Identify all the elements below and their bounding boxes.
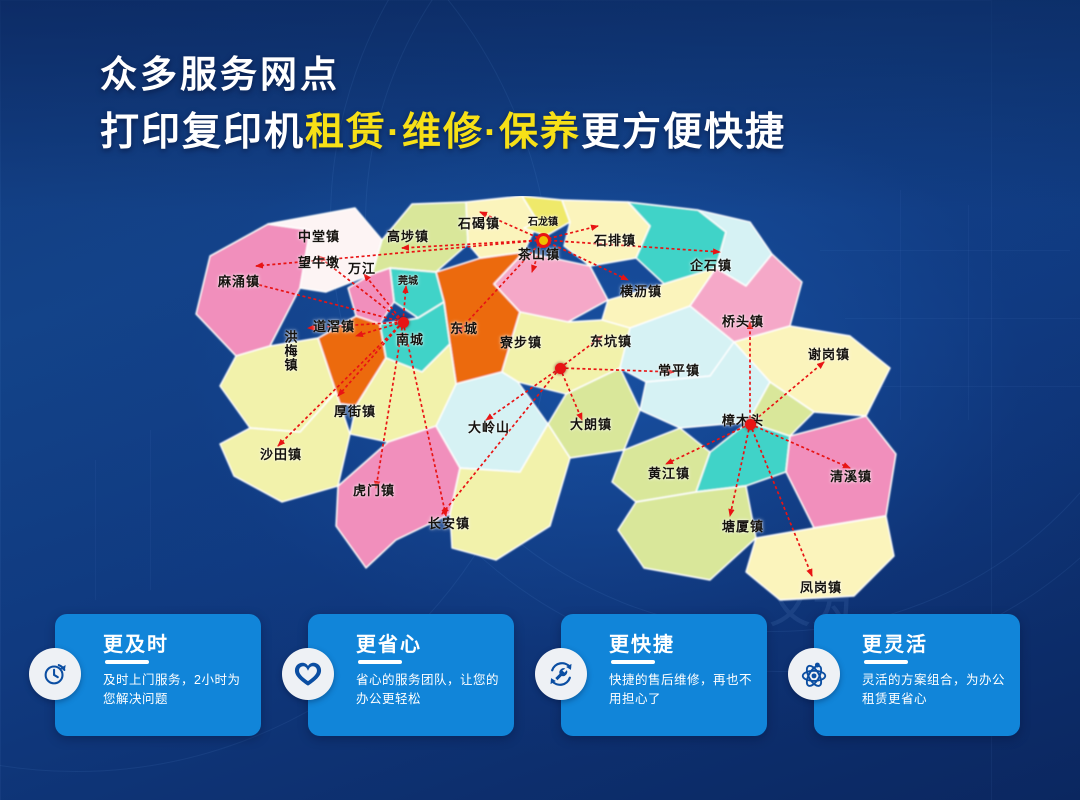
map-town-label: 石碣镇 [458, 217, 500, 232]
feature-card-divider [611, 660, 655, 664]
feature-card-title: 更及时 [103, 628, 169, 657]
wrench-refresh-icon [535, 648, 587, 700]
map-hub-marker[interactable] [745, 419, 756, 430]
headline-prefix: 打印复印机 [100, 111, 305, 154]
heart-icon [282, 648, 334, 700]
map-town-label: 中堂镇 [298, 230, 340, 245]
map-town-label: 大岭山 [468, 421, 510, 436]
map-town-label: 常平镇 [658, 364, 700, 379]
map-town-label: 东坑镇 [590, 335, 632, 350]
map-town-label: 清溪镇 [830, 470, 872, 485]
feature-card[interactable]: 更省心省心的服务团队，让您的办公更轻松 [308, 614, 514, 736]
map-town-label: 寮步镇 [500, 336, 542, 351]
headline-suffix: 更方便快捷 [581, 111, 786, 154]
feature-card-description: 快捷的售后维修，再也不用担心了 [609, 671, 759, 710]
map-town-label: 莞城 [398, 276, 418, 287]
feature-card-row: 更及时及时上门服务，2小时为您解决问题更省心省心的服务团队，让您的办公更轻松更快… [0, 614, 1080, 744]
headline-line-1: 众多服务网点 [100, 52, 786, 98]
feature-card-divider [105, 660, 149, 664]
feature-card[interactable]: 更及时及时上门服务，2小时为您解决问题 [55, 614, 261, 736]
map-town-label: 麻涌镇 [218, 275, 260, 290]
headline-highlight: 租赁·维修·保养 [305, 111, 581, 154]
map-town-label: 石龙镇 [528, 217, 558, 228]
headline-line-2: 打印复印机租赁·维修·保养更方便快捷 [100, 110, 786, 157]
map-town-label: 谢岗镇 [808, 348, 850, 363]
map-town-label: 石排镇 [594, 234, 636, 249]
map-town-label: 大朗镇 [570, 418, 612, 433]
poster-canvas: 义为 众多服务网点 打印复印机租赁·维修·保养更方便快捷 [0, 0, 1080, 800]
atom-icon [788, 648, 840, 700]
map-town-label: 望牛墩 [298, 256, 340, 271]
feature-card-divider [358, 660, 402, 664]
feature-card[interactable]: 更快捷快捷的售后维修，再也不用担心了 [561, 614, 767, 736]
map-hub-marker[interactable] [536, 233, 551, 248]
feature-card-description: 及时上门服务，2小时为您解决问题 [103, 671, 253, 710]
map-town-label: 长安镇 [428, 517, 470, 532]
map-town-label: 厚街镇 [334, 405, 376, 420]
map-town-label: 黄江镇 [648, 467, 690, 482]
map-town-label: 南城 [396, 333, 424, 348]
map-town-label: 企石镇 [690, 259, 732, 274]
feature-card[interactable]: 更灵活灵活的方案组合，为办公租赁更省心 [814, 614, 1020, 736]
map-town-label: 茶山镇 [518, 248, 560, 263]
map-town-label: 桥头镇 [722, 315, 764, 330]
map-town-label: 道滘镇 [313, 320, 355, 335]
map-town-label: 虎门镇 [353, 484, 395, 499]
clock-refresh-icon [29, 648, 81, 700]
service-network-map[interactable]: 中堂镇望牛墩高埗镇石碣镇石龙镇石排镇茶山镇企石镇横沥镇桥头镇谢岗镇麻涌镇万江莞城… [150, 196, 950, 606]
feature-card-title: 更灵活 [862, 628, 928, 657]
map-town-label: 万江 [348, 262, 376, 277]
feature-card-title: 更省心 [356, 628, 422, 657]
map-town-label: 樟木头 [722, 414, 764, 429]
map-town-label: 洪梅镇 [282, 330, 297, 372]
map-town-label: 高埗镇 [387, 230, 429, 245]
map-town-label: 凤岗镇 [800, 581, 842, 596]
feature-card-description: 省心的服务团队，让您的办公更轻松 [356, 671, 506, 710]
map-hub-marker[interactable] [398, 317, 409, 328]
headline-block: 众多服务网点 打印复印机租赁·维修·保养更方便快捷 [100, 52, 786, 157]
feature-card-divider [864, 660, 908, 664]
map-town-label: 沙田镇 [260, 448, 302, 463]
map-hub-marker[interactable] [555, 363, 566, 374]
map-town-label: 东城 [450, 322, 478, 337]
feature-card-description: 灵活的方案组合，为办公租赁更省心 [862, 671, 1012, 710]
map-town-label: 塘厦镇 [722, 520, 764, 535]
map-town-label: 横沥镇 [620, 285, 662, 300]
feature-card-title: 更快捷 [609, 628, 675, 657]
